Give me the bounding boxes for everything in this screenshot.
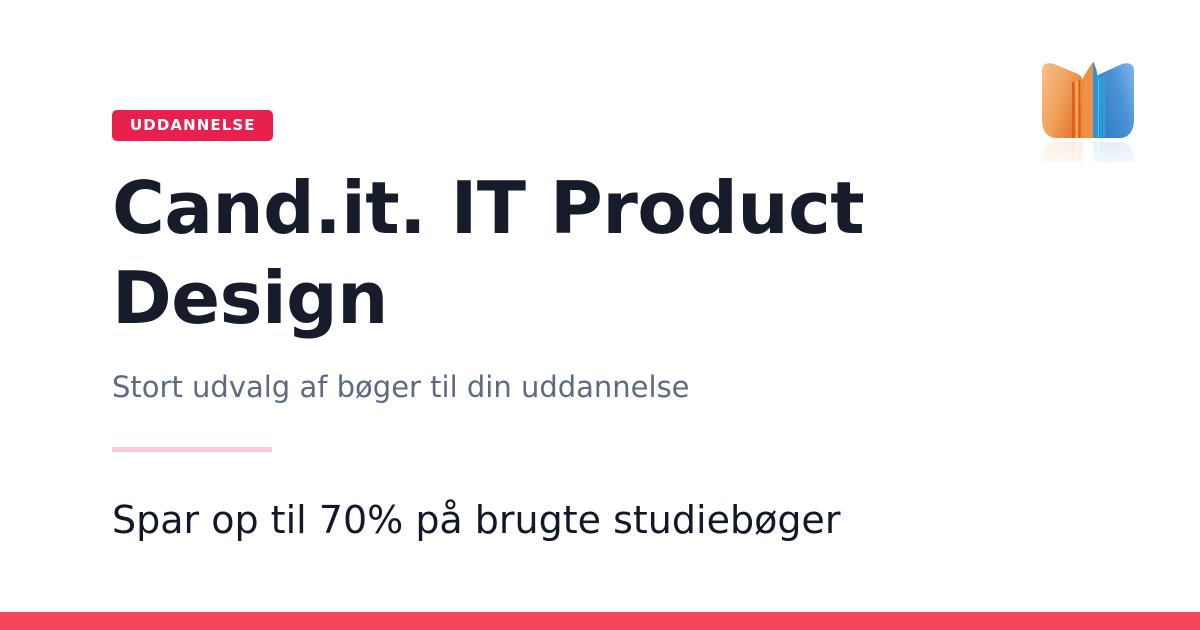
page-subtitle: Stort udvalg af bøger til din uddannelse bbox=[112, 369, 1032, 405]
content-column: UDDANNELSE Cand.it. IT Product Design St… bbox=[112, 110, 1032, 544]
promo-card: UDDANNELSE Cand.it. IT Product Design St… bbox=[0, 0, 1200, 630]
category-badge: UDDANNELSE bbox=[112, 110, 273, 141]
page-title: Cand.it. IT Product Design bbox=[112, 163, 932, 343]
butterfly-book-logo bbox=[1038, 52, 1138, 162]
logo-left-wing bbox=[1042, 63, 1083, 138]
divider bbox=[112, 447, 272, 452]
bottom-accent-bar bbox=[0, 612, 1200, 630]
promo-tagline: Spar op til 70% på brugte studiebøger bbox=[112, 496, 1032, 544]
logo-right-wing bbox=[1094, 63, 1135, 138]
